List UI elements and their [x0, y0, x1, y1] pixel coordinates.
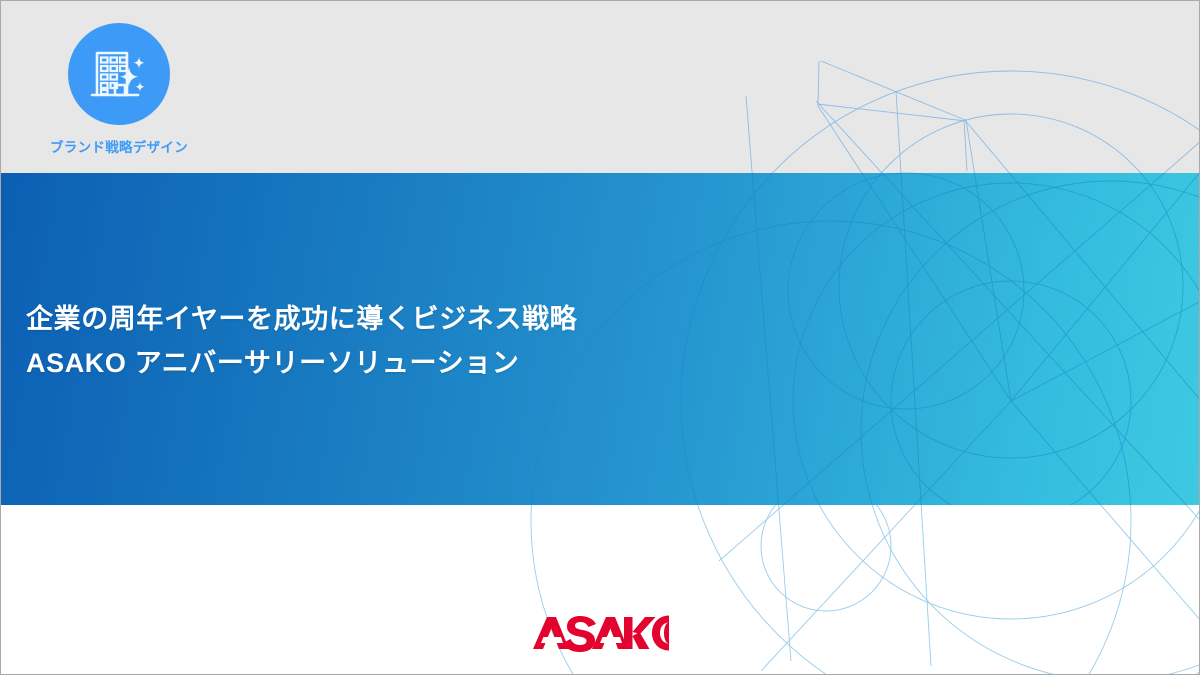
- slide-title-line-2: ASAKO アニバーサリーソリューション: [26, 341, 577, 385]
- asako-logo-icon: [533, 613, 669, 653]
- presentation-slide: ブランド戦略デザイン 企業の周年イヤーを成功に導くビジネス戦略 ASAKO アニ…: [0, 0, 1200, 675]
- brand-logo-caption: ブランド戦略デザイン: [49, 136, 189, 156]
- brand-logo-block: ブランド戦略デザイン: [49, 23, 189, 156]
- slide-title-line-1: 企業の周年イヤーを成功に導くビジネス戦略: [26, 297, 577, 341]
- slide-title: 企業の周年イヤーを成功に導くビジネス戦略 ASAKO アニバーサリーソリューショ…: [26, 297, 577, 385]
- building-sparkle-icon: [68, 23, 170, 125]
- asako-wordmark: [1, 613, 1200, 653]
